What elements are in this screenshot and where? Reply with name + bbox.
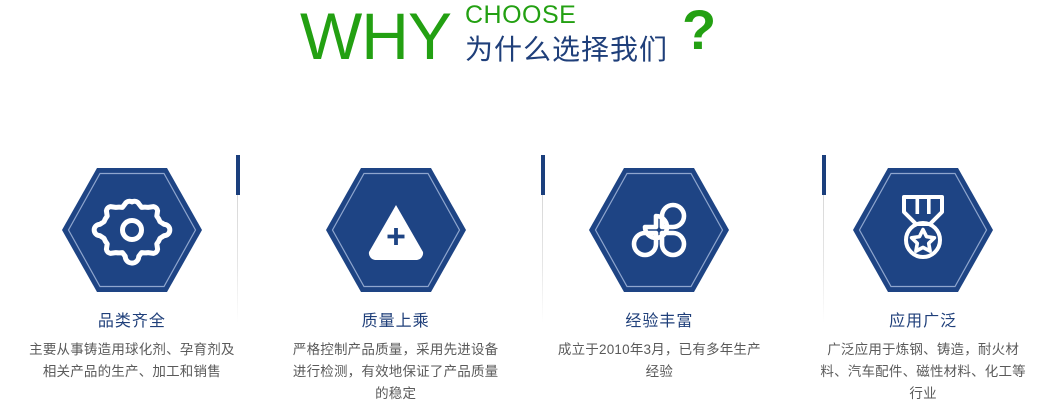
feature-card-3: 经验丰富 成立于2010年3月，已有多年生产经验: [528, 140, 792, 416]
card-title: 品类齐全: [98, 312, 166, 332]
divider-gray-segment: [237, 195, 238, 323]
card-divider-3: [822, 155, 826, 323]
triangle-plus-icon: [326, 168, 466, 292]
card-divider-2: [541, 155, 545, 323]
gear-icon: [62, 168, 202, 292]
hexagon-badge-2: [326, 168, 466, 292]
divider-navy-segment: [541, 155, 545, 195]
feature-card-1: 品类齐全 主要从事铸造用球化剂、孕育剂及相关产品的生产、加工和销售: [0, 140, 264, 416]
feature-card-4: 应用广泛 广泛应用于炼钢、铸造，耐火材料、汽车配件、磁性材料、化工等行业: [791, 140, 1055, 416]
feature-cards: 品类齐全 主要从事铸造用球化剂、孕育剂及相关产品的生产、加工和销售 质量上乘 严…: [0, 140, 1055, 416]
section-header: WHY CHOOSE 为什么选择我们 ?: [0, 0, 1055, 92]
medal-star-icon: [853, 168, 993, 292]
headline-choose: CHOOSE: [465, 2, 668, 29]
hexagon-badge-3: [589, 168, 729, 292]
divider-navy-segment: [822, 155, 826, 195]
header-inner: WHY CHOOSE 为什么选择我们 ?: [300, 0, 716, 72]
why-choose-us-section: WHY CHOOSE 为什么选择我们 ? 品类齐全: [0, 0, 1055, 416]
headline-question-mark: ?: [682, 2, 716, 72]
headline-chinese: 为什么选择我们: [465, 33, 668, 67]
card-body: 广泛应用于炼钢、铸造，耐火材料、汽车配件、磁性材料、化工等行业: [818, 339, 1028, 405]
card-body: 成立于2010年3月，已有多年生产经验: [554, 339, 764, 383]
card-title: 质量上乘: [362, 312, 430, 332]
card-title: 应用广泛: [889, 312, 957, 332]
card-body: 主要从事铸造用球化剂、孕育剂及相关产品的生产、加工和销售: [27, 339, 237, 383]
divider-gray-segment: [542, 195, 543, 323]
headline-why: WHY: [300, 0, 451, 72]
feature-card-2: 质量上乘 严格控制产品质量，采用先进设备进行检测，有效地保证了产品质量的稳定: [264, 140, 528, 416]
headline-stack: CHOOSE 为什么选择我们: [465, 0, 668, 67]
card-body: 严格控制产品质量，采用先进设备进行检测，有效地保证了产品质量的稳定: [291, 339, 501, 405]
card-title: 经验丰富: [625, 312, 693, 332]
four-petal-clover-icon: [589, 168, 729, 292]
card-divider-1: [236, 155, 240, 323]
divider-gray-segment: [823, 195, 824, 323]
hexagon-badge-1: [62, 168, 202, 292]
divider-navy-segment: [236, 155, 240, 195]
hexagon-badge-4: [853, 168, 993, 292]
